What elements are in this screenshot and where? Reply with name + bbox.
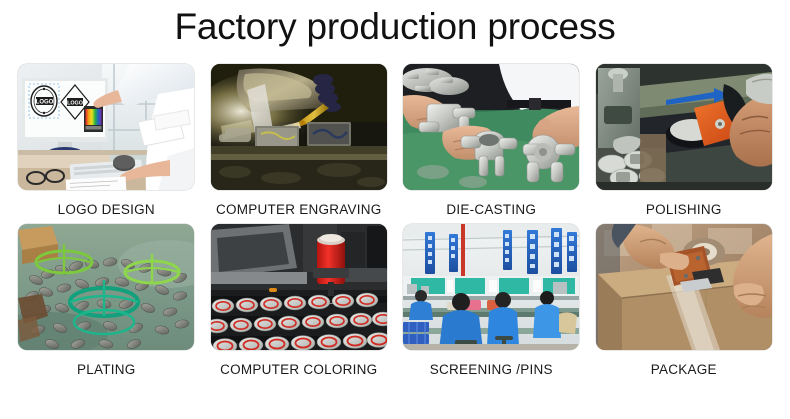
step-label: SCREENING /PINS (430, 361, 553, 378)
screening-pins-illustration (403, 224, 579, 350)
step-label: POLISHING (646, 201, 722, 218)
svg-text:LOGO: LOGO (67, 101, 83, 107)
die-casting-illustration (403, 64, 579, 190)
process-step-package: PACKAGE (588, 224, 781, 378)
factory-process-infographic: Factory production process (0, 0, 790, 419)
package-illustration (596, 224, 772, 350)
process-step-polishing: POLISHING (588, 64, 781, 218)
coloring-illustration (211, 224, 387, 350)
process-step-computer-coloring: COMPUTER COLORING (203, 224, 396, 378)
step-label: LOGO DESIGN (58, 201, 155, 218)
process-step-logo-design: LOGO LOGO (10, 64, 203, 218)
process-step-die-casting: DIE-CASTING (395, 64, 588, 218)
logo-design-photo: LOGO LOGO (18, 64, 194, 190)
step-label: COMPUTER ENGRAVING (216, 201, 382, 218)
plating-photo (18, 224, 194, 350)
package-photo (596, 224, 772, 350)
process-step-screening-pins: SCREENING /PINS (395, 224, 588, 378)
logo-design-illustration: LOGO LOGO (18, 64, 194, 190)
process-step-plating: PLATING (10, 224, 203, 378)
computer-coloring-photo (211, 224, 387, 350)
polishing-photo (596, 64, 772, 190)
page-title: Factory production process (0, 0, 790, 50)
process-steps-grid: LOGO LOGO (0, 64, 790, 378)
step-label: PACKAGE (651, 361, 717, 378)
die-casting-photo (403, 64, 579, 190)
plating-illustration (18, 224, 194, 350)
screening-pins-photo (403, 224, 579, 350)
svg-text:LOGO: LOGO (36, 100, 54, 106)
engraving-illustration (211, 64, 387, 190)
computer-engraving-photo (211, 64, 387, 190)
step-label: DIE-CASTING (446, 201, 536, 218)
step-label: PLATING (77, 361, 136, 378)
process-step-computer-engraving: COMPUTER ENGRAVING (203, 64, 396, 218)
step-label: COMPUTER COLORING (220, 361, 377, 378)
polishing-illustration (596, 64, 772, 190)
